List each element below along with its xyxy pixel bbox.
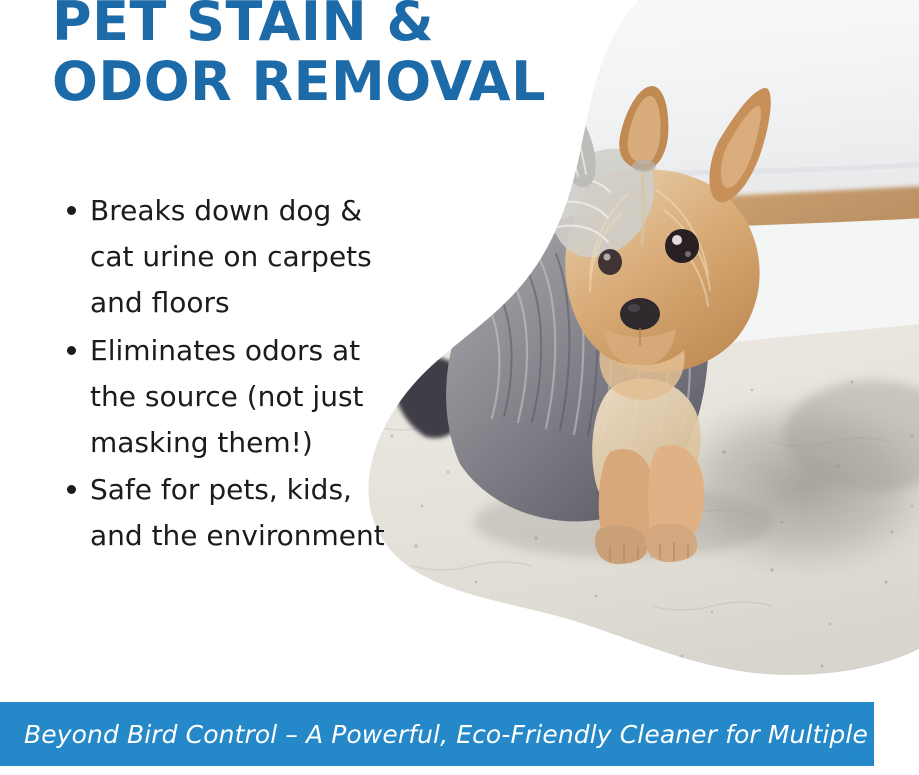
headline-line-1: PET STAIN & bbox=[52, 0, 672, 52]
headline-line-2: ODOR REMOVAL bbox=[52, 52, 672, 112]
tagline-text: Beyond Bird Control – A Powerful, Eco-Fr… bbox=[24, 702, 919, 766]
list-item-label: Eliminates odors at the source (not just… bbox=[90, 334, 364, 459]
bullet-dot-icon bbox=[67, 346, 76, 355]
product-feature-graphic: PET STAIN & ODOR REMOVAL Breaks down dog… bbox=[0, 0, 919, 775]
bullet-dot-icon bbox=[67, 485, 76, 494]
page-title: PET STAIN & ODOR REMOVAL bbox=[52, 0, 672, 113]
list-item: Eliminates odors at the source (not just… bbox=[58, 328, 388, 466]
feature-list: Breaks down dog & cat urine on carpets a… bbox=[58, 188, 388, 561]
list-item-label: Safe for pets, kids, and the environment bbox=[90, 473, 385, 552]
bullet-dot-icon bbox=[67, 206, 76, 215]
list-item: Safe for pets, kids, and the environment bbox=[58, 467, 388, 559]
list-item: Breaks down dog & cat urine on carpets a… bbox=[58, 188, 388, 326]
tagline-banner: Beyond Bird Control – A Powerful, Eco-Fr… bbox=[0, 702, 919, 766]
list-item-label: Breaks down dog & cat urine on carpets a… bbox=[90, 194, 372, 319]
